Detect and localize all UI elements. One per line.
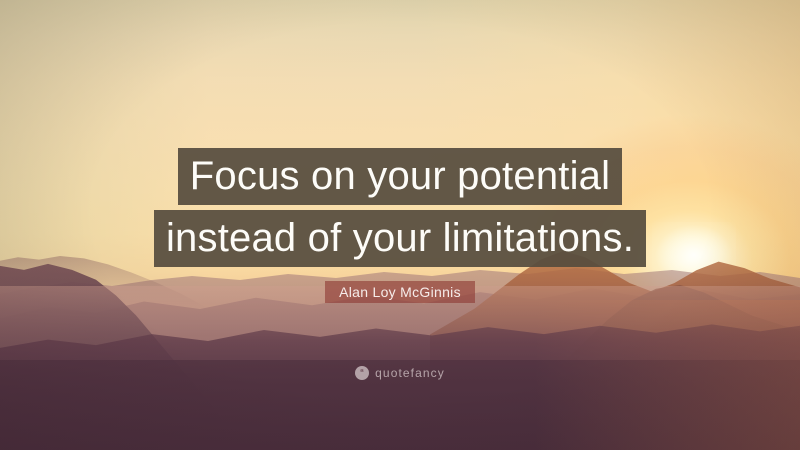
quote-line-1: Focus on your potential	[178, 148, 622, 205]
quotefancy-watermark: “ quotefancy	[0, 366, 800, 380]
quote-mark-icon: “	[355, 366, 369, 380]
quote-mark-glyph: “	[360, 369, 364, 377]
quote-image-canvas: Focus on your potential instead of your …	[0, 0, 800, 450]
author-name: Alan Loy McGinnis	[325, 281, 475, 303]
watermark-brand-label: quotefancy	[375, 366, 445, 380]
quote-text-block: Focus on your potential instead of your …	[0, 148, 800, 267]
author-attribution: Alan Loy McGinnis	[0, 281, 800, 303]
quote-line-2: instead of your limitations.	[154, 210, 646, 267]
